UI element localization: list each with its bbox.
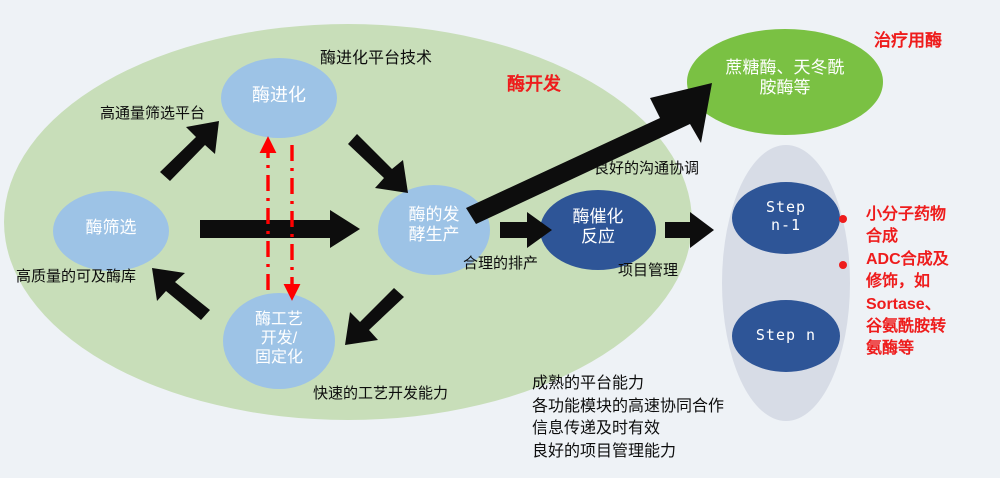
application-item-1-line-1: 小分子药物 [866, 204, 949, 226]
capability-item-1: 成熟的平台能力 [532, 373, 724, 396]
application-item-2-line-1: ADC合成及 [866, 249, 949, 271]
therapeutic-enzymes-caption: 治疗用酶 [874, 31, 942, 51]
annotation-fast-process-dev: 快速的工艺开发能力 [313, 385, 448, 402]
step-n-minus-1-line-2: n-1 [736, 217, 836, 235]
capability-item-4: 良好的项目管理能力 [532, 441, 724, 464]
therapeutic-enzymes-line-1: 蔗糖酶、天冬酰 [695, 58, 875, 78]
application-bullets: 小分子药物 合成 ADC合成及 修饰，如 Sortase、 谷氨酰胺转 氨酶等 [866, 204, 949, 361]
step-n-minus-1-label: Step n-1 [736, 199, 836, 234]
enzyme-catalysis-label: 酶催化 反应 [548, 207, 648, 247]
step-n-line-1: Step n [736, 327, 836, 345]
enzyme-catalysis-line-2: 反应 [548, 227, 648, 247]
application-item-1: 小分子药物 合成 [866, 204, 949, 249]
application-bullet-dot-2 [839, 261, 847, 269]
annotation-reasonable-production-plan: 合理的排产 [463, 255, 538, 272]
enzyme-fermentation-line-1: 酶的发 [384, 205, 484, 225]
step-n-label: Step n [736, 327, 836, 345]
enzyme-process-dev-line-3: 固定化 [229, 349, 329, 368]
diagram-canvas: 酶进化平台技术 酶开发 酶进化 酶筛选 酶的发 酵生产 酶工艺 开发/ 固定化 … [0, 0, 1000, 478]
capability-item-3: 信息传递及时有效 [532, 418, 724, 441]
enzyme-evolution-label: 酶进化 [229, 85, 329, 106]
enzyme-process-dev-label: 酶工艺 开发/ 固定化 [229, 311, 329, 368]
enzyme-catalysis-line-1: 酶催化 [548, 207, 648, 227]
annotation-high-quality-library: 高质量的可及酶库 [16, 268, 136, 285]
application-item-2-line-4: 谷氨酰胺转 [866, 316, 949, 338]
platform-headline: 酶进化平台技术 [320, 50, 432, 68]
annotation-high-throughput-screening: 高通量筛选平台 [100, 105, 205, 122]
application-item-2-line-2: 修饰，如 [866, 271, 949, 293]
platform-accent-label: 酶开发 [507, 74, 561, 95]
enzyme-screening-label: 酶筛选 [61, 218, 161, 238]
application-item-2: ADC合成及 修饰，如 Sortase、 谷氨酰胺转 氨酶等 [866, 249, 949, 361]
capability-item-2: 各功能模块的高速协同合作 [532, 396, 724, 419]
application-bullet-dot-1 [839, 215, 847, 223]
enzyme-process-dev-line-1: 酶工艺 [229, 311, 329, 330]
capability-summary: 成熟的平台能力 各功能模块的高速协同合作 信息传递及时有效 良好的项目管理能力 [532, 373, 724, 464]
application-item-2-line-3: Sortase、 [866, 294, 949, 316]
application-item-1-line-2: 合成 [866, 226, 949, 248]
application-item-2-line-5: 氨酶等 [866, 338, 949, 360]
annotation-good-communication: 良好的沟通协调 [594, 160, 699, 177]
enzyme-fermentation-line-2: 酵生产 [384, 225, 484, 245]
step-n-minus-1-line-1: Step [736, 199, 836, 217]
therapeutic-enzymes-line-2: 胺酶等 [695, 78, 875, 98]
enzyme-process-dev-line-2: 开发/ [229, 330, 329, 349]
annotation-project-management: 项目管理 [618, 262, 678, 279]
therapeutic-enzymes-label: 蔗糖酶、天冬酰 胺酶等 [695, 58, 875, 98]
enzyme-fermentation-label: 酶的发 酵生产 [384, 205, 484, 245]
